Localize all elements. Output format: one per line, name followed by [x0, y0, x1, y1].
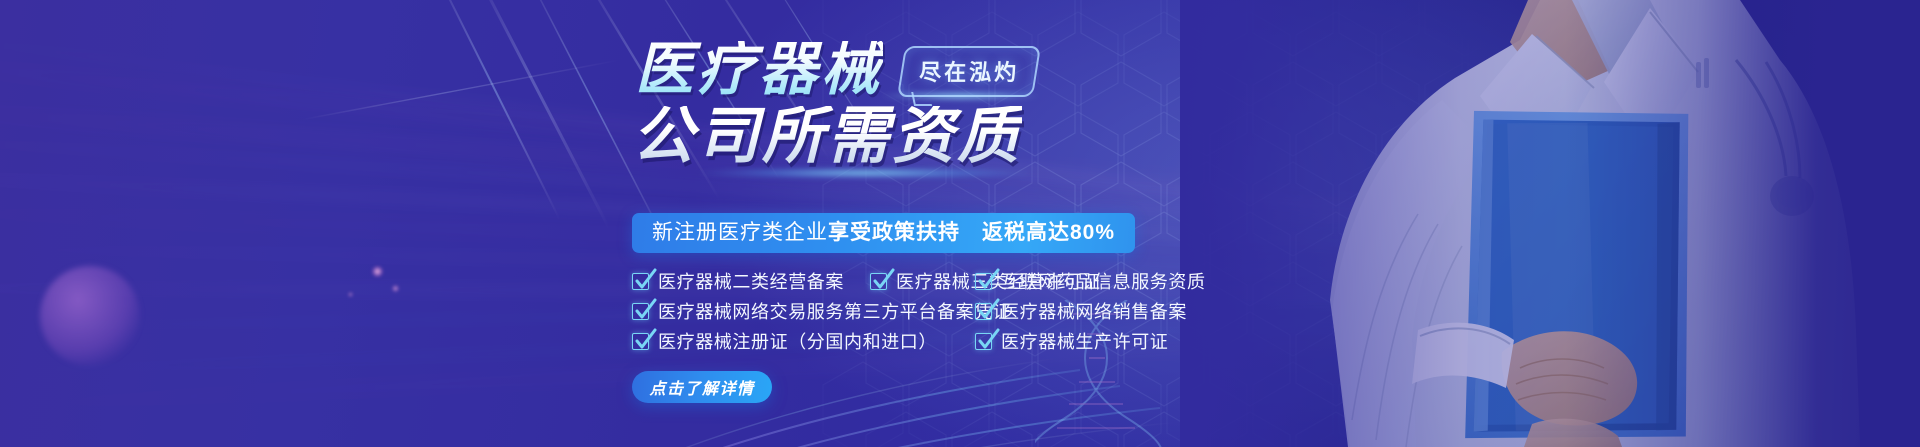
- promo-text-normal: 新注册医疗类企业: [652, 221, 828, 244]
- check-icon: [632, 273, 649, 290]
- headline-main: 医疗器械: [635, 41, 883, 99]
- qualification-item[interactable]: 医疗器械网络交易服务第三方平台备案凭证: [632, 298, 1011, 324]
- qualification-item[interactable]: 互联网药品信息服务资质: [975, 268, 1206, 294]
- qualification-list-right: 互联网药品信息服务资质 医疗器械网络销售备案 医疗器械生产许可证: [975, 266, 1206, 356]
- brand-badge-label: 尽在泓灼: [919, 55, 1019, 87]
- learn-more-button-label: 点击了解详情: [649, 375, 754, 399]
- banner-content: 医疗器械 尽在泓灼 公司所需资质 新注册医疗类企业享受政策扶持 返税高达80% …: [0, 0, 1920, 447]
- promo-text: 新注册医疗类企业享受政策扶持 返税高达80%: [652, 222, 1115, 243]
- qualification-item[interactable]: 医疗器械网络销售备案: [975, 298, 1187, 324]
- qualification-label: 医疗器械网络销售备案: [1001, 298, 1187, 324]
- qualification-row: 医疗器械网络销售备案: [975, 296, 1206, 326]
- qualification-row: 互联网药品信息服务资质: [975, 266, 1206, 296]
- headline-row: 医疗器械 尽在泓灼: [635, 41, 1037, 99]
- promo-text-bold-tax: 返税高达80%: [982, 221, 1115, 244]
- qualification-label: 医疗器械注册证（分国内和进口）: [658, 328, 937, 354]
- qualification-item[interactable]: 医疗器械二类经营备案: [632, 268, 844, 294]
- promo-text-bold-policy: 享受政策扶持: [828, 221, 960, 244]
- qualification-row: 医疗器械生产许可证: [975, 326, 1206, 356]
- qualification-label: 医疗器械网络交易服务第三方平台备案凭证: [658, 298, 1011, 324]
- medical-device-qualification-banner: 医疗器械 尽在泓灼 公司所需资质 新注册医疗类企业享受政策扶持 返税高达80% …: [0, 0, 1920, 447]
- qualification-label: 互联网药品信息服务资质: [1001, 268, 1206, 294]
- qualification-label: 医疗器械二类经营备案: [658, 268, 844, 294]
- qualification-item[interactable]: 医疗器械注册证（分国内和进口）: [632, 328, 937, 354]
- learn-more-button[interactable]: 点击了解详情: [632, 371, 772, 403]
- qualification-label: 医疗器械生产许可证: [1001, 328, 1168, 354]
- brand-badge: 尽在泓灼: [897, 46, 1041, 97]
- qualification-item[interactable]: 医疗器械生产许可证: [975, 328, 1168, 354]
- check-icon: [975, 303, 992, 320]
- check-icon: [975, 273, 992, 290]
- promo-bar: 新注册医疗类企业享受政策扶持 返税高达80%: [632, 213, 1135, 253]
- check-icon: [870, 273, 887, 290]
- check-icon: [632, 303, 649, 320]
- check-icon: [975, 333, 992, 350]
- promo-spacer: [960, 221, 982, 244]
- headline-sub: 公司所需资质: [632, 106, 1022, 168]
- check-icon: [632, 333, 649, 350]
